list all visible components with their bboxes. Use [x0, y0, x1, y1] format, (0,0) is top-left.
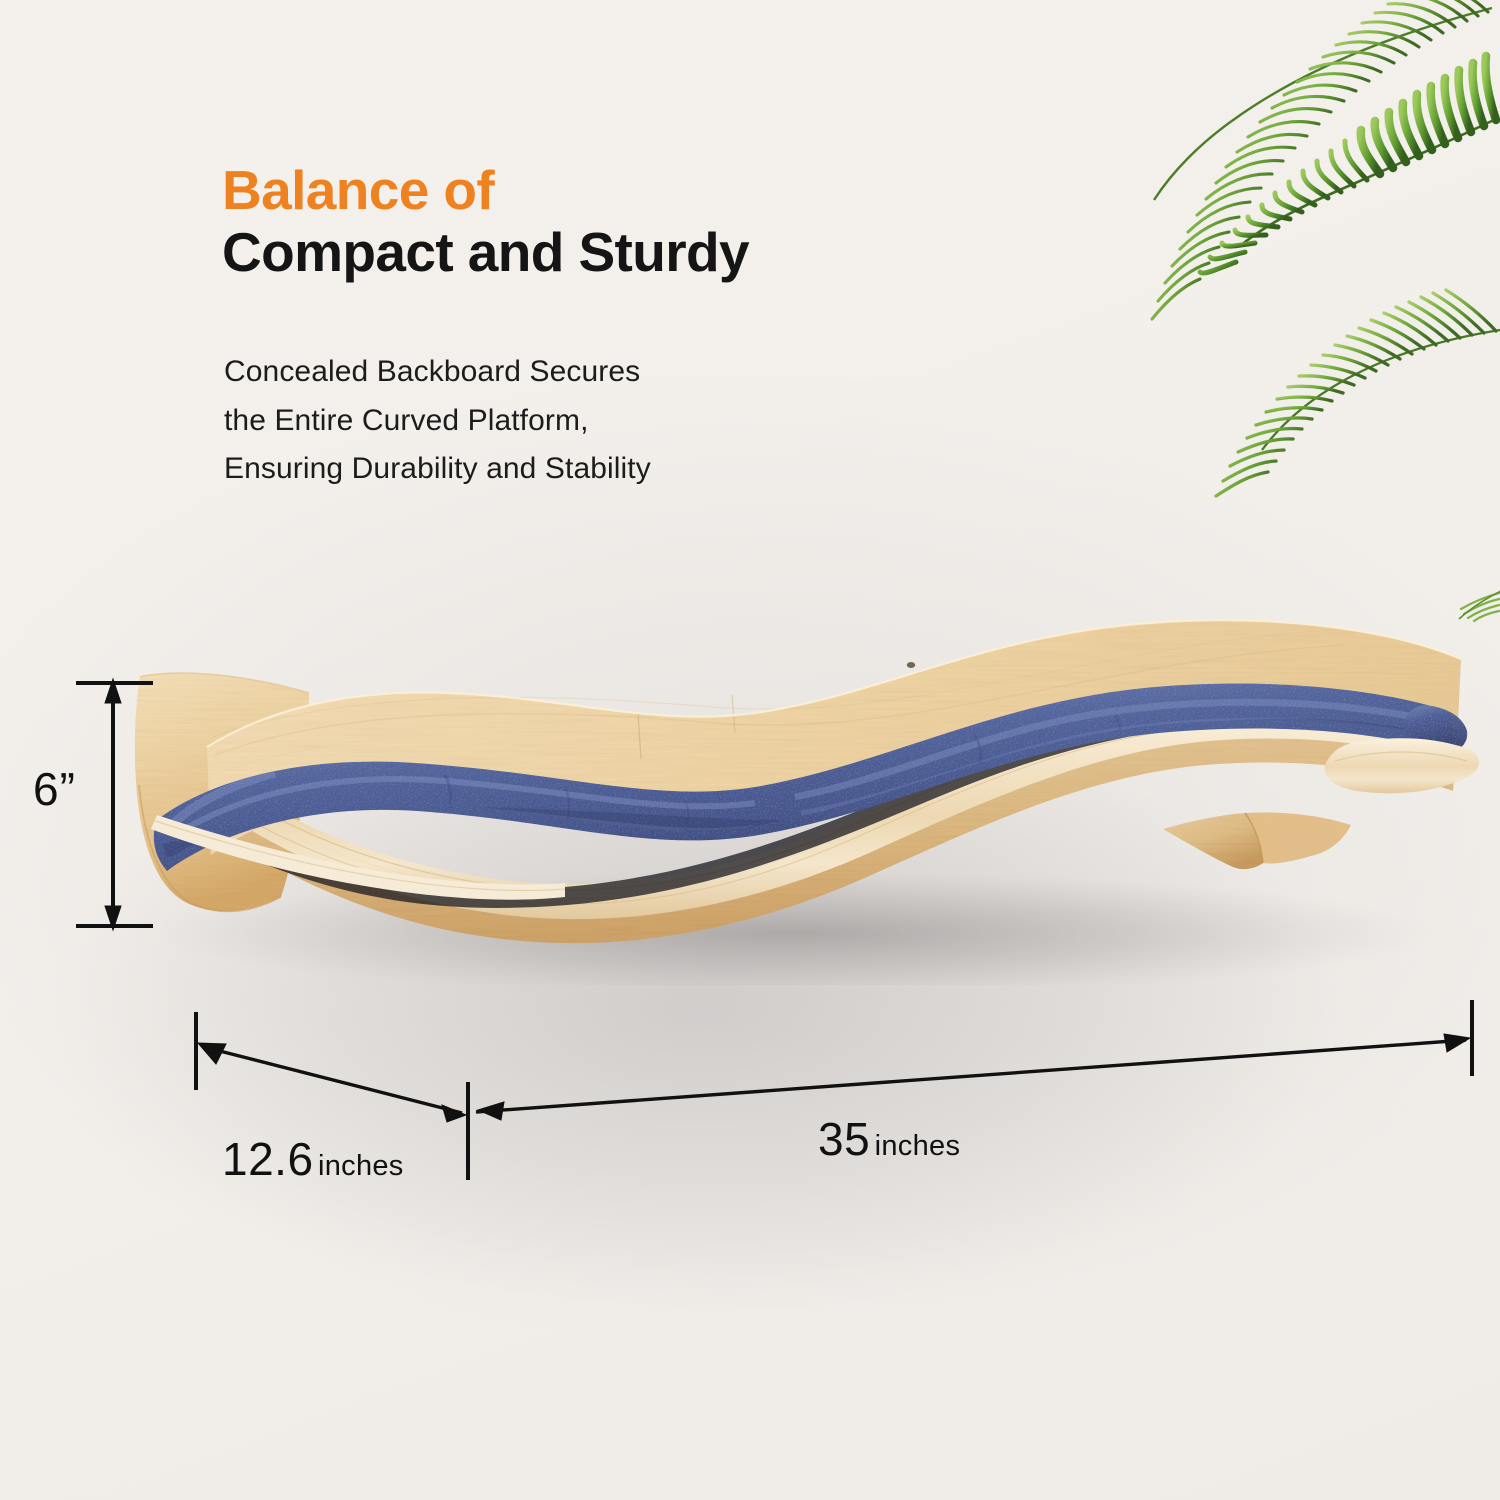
platform-right-tip: [1325, 738, 1480, 793]
width-dimension-label: 35 inches: [818, 1112, 960, 1166]
depth-dimension-line: [196, 1012, 468, 1180]
palm-frond-2: [1200, 56, 1498, 273]
wall-bracket: [1163, 813, 1351, 870]
height-dimension-label: 6”: [33, 762, 76, 816]
subheading-line-3: Ensuring Durability and Stability: [224, 445, 864, 494]
width-unit: inches: [875, 1130, 961, 1162]
palm-frond-3: [1216, 290, 1500, 496]
product-image-curved-cat-shelf: [95, 615, 1485, 985]
width-dimension-line: [476, 1000, 1472, 1120]
palm-frond-decoration: [1140, 0, 1500, 500]
depth-value: 12.6: [222, 1133, 314, 1185]
width-value: 35: [818, 1113, 870, 1165]
subheading-line-2: the Entire Curved Platform,: [224, 397, 864, 446]
palm-frond-1: [1152, 0, 1492, 319]
headline-main-line: Compact and Sturdy: [222, 222, 1062, 284]
depth-unit: inches: [318, 1150, 404, 1182]
product-infographic: Balance of Compact and Sturdy Concealed …: [0, 0, 1500, 1500]
subheading: Concealed Backboard Secures the Entire C…: [224, 348, 864, 494]
subheading-line-1: Concealed Backboard Secures: [224, 348, 864, 397]
depth-dimension-label: 12.6 inches: [222, 1132, 404, 1186]
headline-accent-line: Balance of: [222, 162, 1062, 218]
page-title: Balance of Compact and Sturdy: [222, 162, 1062, 284]
